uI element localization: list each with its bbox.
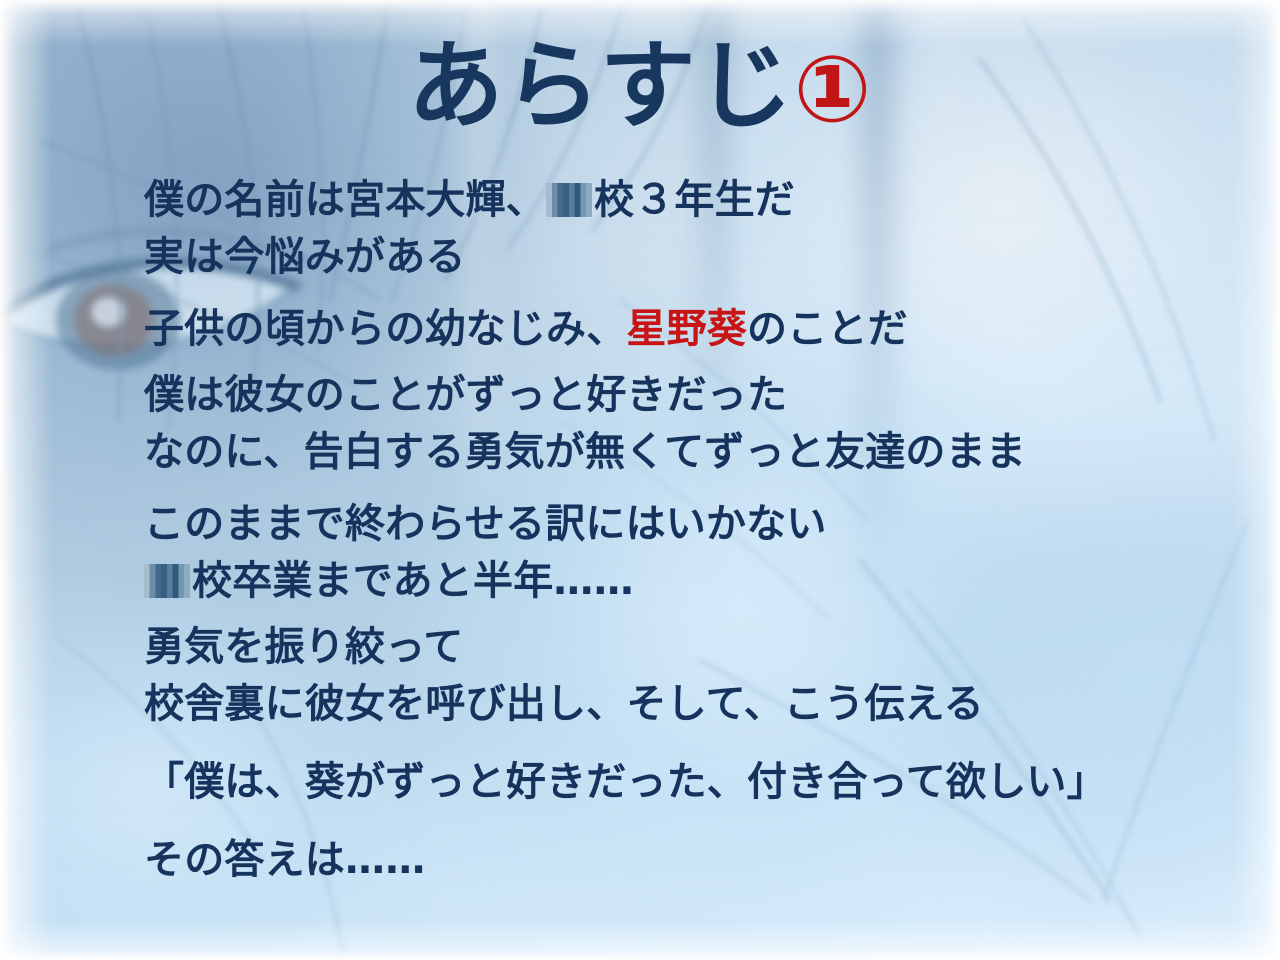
synopsis-line: なのに、告白する勇気が無くてずっと友達のまま xyxy=(144,432,1254,472)
slide-canvas: あらすじ① 僕の名前は宮本大輝、校３年生だ実は今悩みがある子供の頃からの幼なじみ… xyxy=(0,0,1280,960)
synopsis-text: 僕は彼女のことがずっと好きだった xyxy=(144,372,787,418)
highlighted-name: 星野葵 xyxy=(626,306,747,352)
synopsis-line: 校舎裏に彼女を呼び出し、そして、こう伝える xyxy=(144,684,1254,724)
synopsis-text: のことだ xyxy=(747,306,908,352)
synopsis-text: 僕の名前は宮本大輝、 xyxy=(144,177,546,223)
synopsis-text: 実は今悩みがある xyxy=(144,234,466,280)
synopsis-line: 校卒業まであと半年…… xyxy=(144,561,1254,601)
slide-content: あらすじ① 僕の名前は宮本大輝、校３年生だ実は今悩みがある子供の頃からの幼なじみ… xyxy=(0,0,1280,960)
censor-block-icon xyxy=(144,564,190,598)
synopsis-line: 僕は彼女のことがずっと好きだった xyxy=(144,375,1254,415)
page-title-text: あらすじ xyxy=(408,30,794,142)
synopsis-text: 「僕は、葵がずっと好きだった、付き合って欲しい」 xyxy=(144,759,1107,805)
synopsis-line: 子供の頃からの幼なじみ、星野葵のことだ xyxy=(144,309,1254,349)
synopsis-line: 実は今悩みがある xyxy=(144,237,1254,277)
page-title: あらすじ① xyxy=(0,36,1280,139)
synopsis-line: 勇気を振り絞って xyxy=(144,627,1254,667)
synopsis-text: なのに、告白する勇気が無くてずっと友達のまま xyxy=(144,429,1026,475)
censor-block-icon xyxy=(546,183,592,217)
synopsis-text: このままで終わらせる訳にはいかない xyxy=(144,501,827,547)
synopsis-text-block: 僕の名前は宮本大輝、校３年生だ実は今悩みがある子供の頃からの幼なじみ、星野葵のこ… xyxy=(144,180,1254,880)
synopsis-line: このままで終わらせる訳にはいかない xyxy=(144,504,1254,544)
synopsis-line: 「僕は、葵がずっと好きだった、付き合って欲しい」 xyxy=(144,762,1254,802)
synopsis-line: 僕の名前は宮本大輝、校３年生だ xyxy=(144,180,1254,220)
section-number-badge: ① xyxy=(794,42,873,139)
synopsis-text: 勇気を振り絞って xyxy=(144,624,464,670)
synopsis-text: 校３年生だ xyxy=(594,177,795,223)
synopsis-text: 子供の頃からの幼なじみ、 xyxy=(144,306,626,352)
synopsis-line: その答えは…… xyxy=(144,840,1254,880)
synopsis-text: 校卒業まであと半年…… xyxy=(192,558,634,604)
synopsis-text: 校舎裏に彼女を呼び出し、そして、こう伝える xyxy=(144,681,984,727)
synopsis-text: その答えは…… xyxy=(144,837,425,883)
